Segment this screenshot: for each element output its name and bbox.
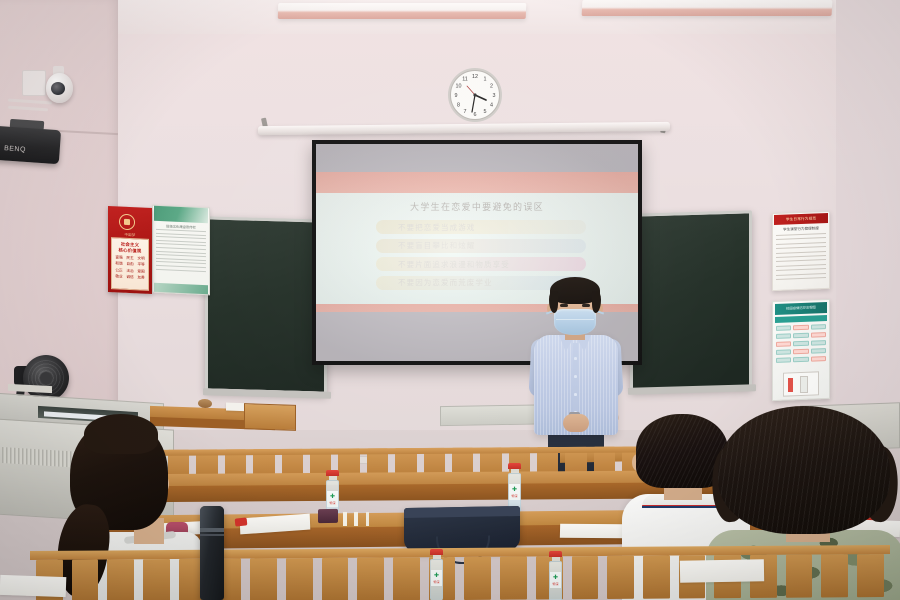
- fan-hub-icon: [40, 372, 52, 384]
- slide-accent-band: [316, 172, 638, 193]
- poster-core-values-grid: 富强 民主 文明 和谐 自由 平等 公正 法治 爱国 敬业 诚信 友善: [114, 255, 146, 281]
- student-1-hair-front: [84, 414, 158, 454]
- bottle-label-text: 怡宝: [550, 581, 561, 586]
- slide-title: 大学生在恋爱中要避免的误区: [316, 200, 638, 213]
- svg-text:7: 7: [464, 109, 467, 115]
- paper-sheet: [0, 575, 66, 597]
- camera-junction-box: [22, 70, 46, 96]
- core-value: 平等: [136, 262, 146, 268]
- desk-object-red: [235, 517, 248, 526]
- national-emblem-inner-icon: [124, 219, 130, 225]
- poster-epidemic-flowchart-header: 校园疫情防控流程图: [775, 302, 827, 315]
- camera-lens-icon: [51, 82, 65, 95]
- svg-text:11: 11: [462, 77, 468, 83]
- core-value: 爱国: [136, 269, 146, 275]
- presenter-eye-right: [582, 304, 590, 307]
- face-mask-icon: [554, 309, 596, 335]
- marker-pen: [343, 512, 347, 526]
- flow-cell: [811, 332, 826, 338]
- flow-cell: [793, 325, 808, 331]
- bottle-label: ✚ 怡宝: [550, 572, 561, 588]
- bottle-label-text: 怡宝: [431, 579, 442, 584]
- bottle-label-text: 怡宝: [327, 500, 338, 505]
- flow-cell: [811, 348, 826, 354]
- svg-text:8: 8: [457, 103, 460, 109]
- shirt-button: [574, 393, 577, 396]
- ceiling-light-2: [582, 0, 833, 16]
- blackboard-right: [630, 210, 752, 391]
- slide-bullet-text: 不要盲目攀比和炫耀: [398, 240, 475, 251]
- right-wall: [836, 0, 900, 470]
- poster-class-culture-header: [154, 206, 208, 223]
- core-value: 公正: [114, 268, 124, 274]
- bottle-label: ✚ 怡宝: [431, 570, 442, 586]
- shirt-button: [574, 375, 577, 378]
- cabinet-figure-icon: [800, 376, 808, 393]
- slide-letterbox-top: [316, 144, 638, 172]
- wooden-podium: [244, 403, 296, 431]
- svg-text:3: 3: [493, 93, 496, 99]
- thermos-ring: [200, 528, 224, 532]
- flow-cell: [776, 349, 791, 355]
- paper-sheet: [560, 524, 626, 539]
- bottle-body: ✚ 怡宝: [549, 561, 562, 600]
- shirt-button: [574, 357, 577, 360]
- ceiling-light-1: [278, 3, 527, 19]
- student-3-hair-texture: [718, 406, 890, 534]
- poster-class-culture-text: [156, 229, 206, 274]
- svg-text:9: 9: [455, 93, 458, 99]
- core-value: 文明: [136, 256, 146, 262]
- desk-object: [198, 399, 212, 408]
- core-value: 富强: [114, 255, 124, 261]
- svg-text:4: 4: [490, 103, 493, 109]
- slide-bullet-item: 不要片面追求浪漫和物质享受: [376, 257, 586, 271]
- bottle-body: ✚ 怡宝: [430, 559, 443, 600]
- poster-student-rules-text: [776, 233, 826, 283]
- presenter-hair-side-left: [549, 291, 558, 313]
- paper-sheet: [680, 559, 764, 582]
- poster-core-values-title: 社会主义核心价值观: [114, 241, 146, 254]
- marker-pen: [366, 512, 369, 526]
- fire-extinguisher-icon: [788, 378, 793, 392]
- poster-student-rules-header: 学生日常行为规范: [774, 213, 828, 225]
- desk-cup: [318, 509, 338, 523]
- blackboard-left: [205, 216, 327, 394]
- flow-cell: [793, 333, 808, 339]
- wall-clock-icon: 1212 345 678 91011: [446, 66, 504, 124]
- svg-text:2: 2: [490, 84, 493, 90]
- core-value: 诚信: [125, 275, 135, 281]
- flow-cell: [776, 357, 791, 363]
- core-value: 友善: [136, 275, 146, 281]
- flow-cell: [793, 357, 808, 363]
- flow-cell: [793, 349, 808, 355]
- flow-cell: [776, 333, 791, 339]
- slide-bullet-text: 不要把恋爱当成游戏: [398, 222, 475, 233]
- bottle-label: ✚ 怡宝: [327, 491, 338, 507]
- core-value: 和谐: [114, 261, 124, 267]
- classroom-scene: BENQ 1212 345 678 91011 班级文化建设宣传栏 中国梦 社会…: [0, 0, 900, 600]
- flow-cell: [811, 340, 826, 346]
- slide-bullet-text: 不要因为恋爱而荒废学业: [398, 277, 493, 288]
- core-value: 法治: [125, 268, 135, 274]
- bottle-label-text: 怡宝: [509, 493, 520, 498]
- slide-bullet-text: 不要片面追求浪漫和物质享受: [398, 259, 510, 270]
- face-mask-fold: [556, 319, 594, 320]
- projector-brand-label: BENQ: [4, 145, 31, 156]
- slide-bullet-item: 不要把恋爱当成游戏: [376, 220, 586, 234]
- poster-epidemic-flowchart-grid: [776, 324, 826, 366]
- flow-cell: [811, 324, 826, 330]
- svg-text:10: 10: [456, 84, 462, 90]
- water-bottle: ✚ 怡宝: [549, 551, 562, 600]
- flow-cell: [793, 341, 808, 347]
- water-bottle: ✚ 怡宝: [430, 549, 443, 600]
- core-value: 自由: [125, 262, 135, 268]
- flow-cell: [776, 325, 791, 331]
- presenter-eye-left: [560, 304, 568, 307]
- laptop-bag-flap: [404, 506, 520, 518]
- core-value: 敬业: [114, 274, 124, 280]
- marker-pen: [354, 512, 358, 526]
- svg-text:1: 1: [484, 77, 487, 83]
- flow-cell: [811, 356, 826, 362]
- presenter-hands: [563, 414, 589, 432]
- thermos-ring: [200, 534, 224, 536]
- flow-cell: [776, 341, 791, 347]
- slide-bullet-item: 不要盲目攀比和炫耀: [376, 239, 586, 253]
- poster-core-values-card: 社会主义核心价值观 富强 民主 文明 和谐 自由 平等 公正 法治 爱国 敬业 …: [111, 237, 149, 291]
- thermos-cap: [200, 506, 224, 528]
- svg-text:5: 5: [484, 109, 487, 115]
- svg-text:12: 12: [472, 74, 478, 80]
- core-value: 民主: [125, 255, 135, 261]
- bottle-label: ✚ 怡宝: [509, 484, 520, 500]
- svg-text:6: 6: [474, 112, 477, 118]
